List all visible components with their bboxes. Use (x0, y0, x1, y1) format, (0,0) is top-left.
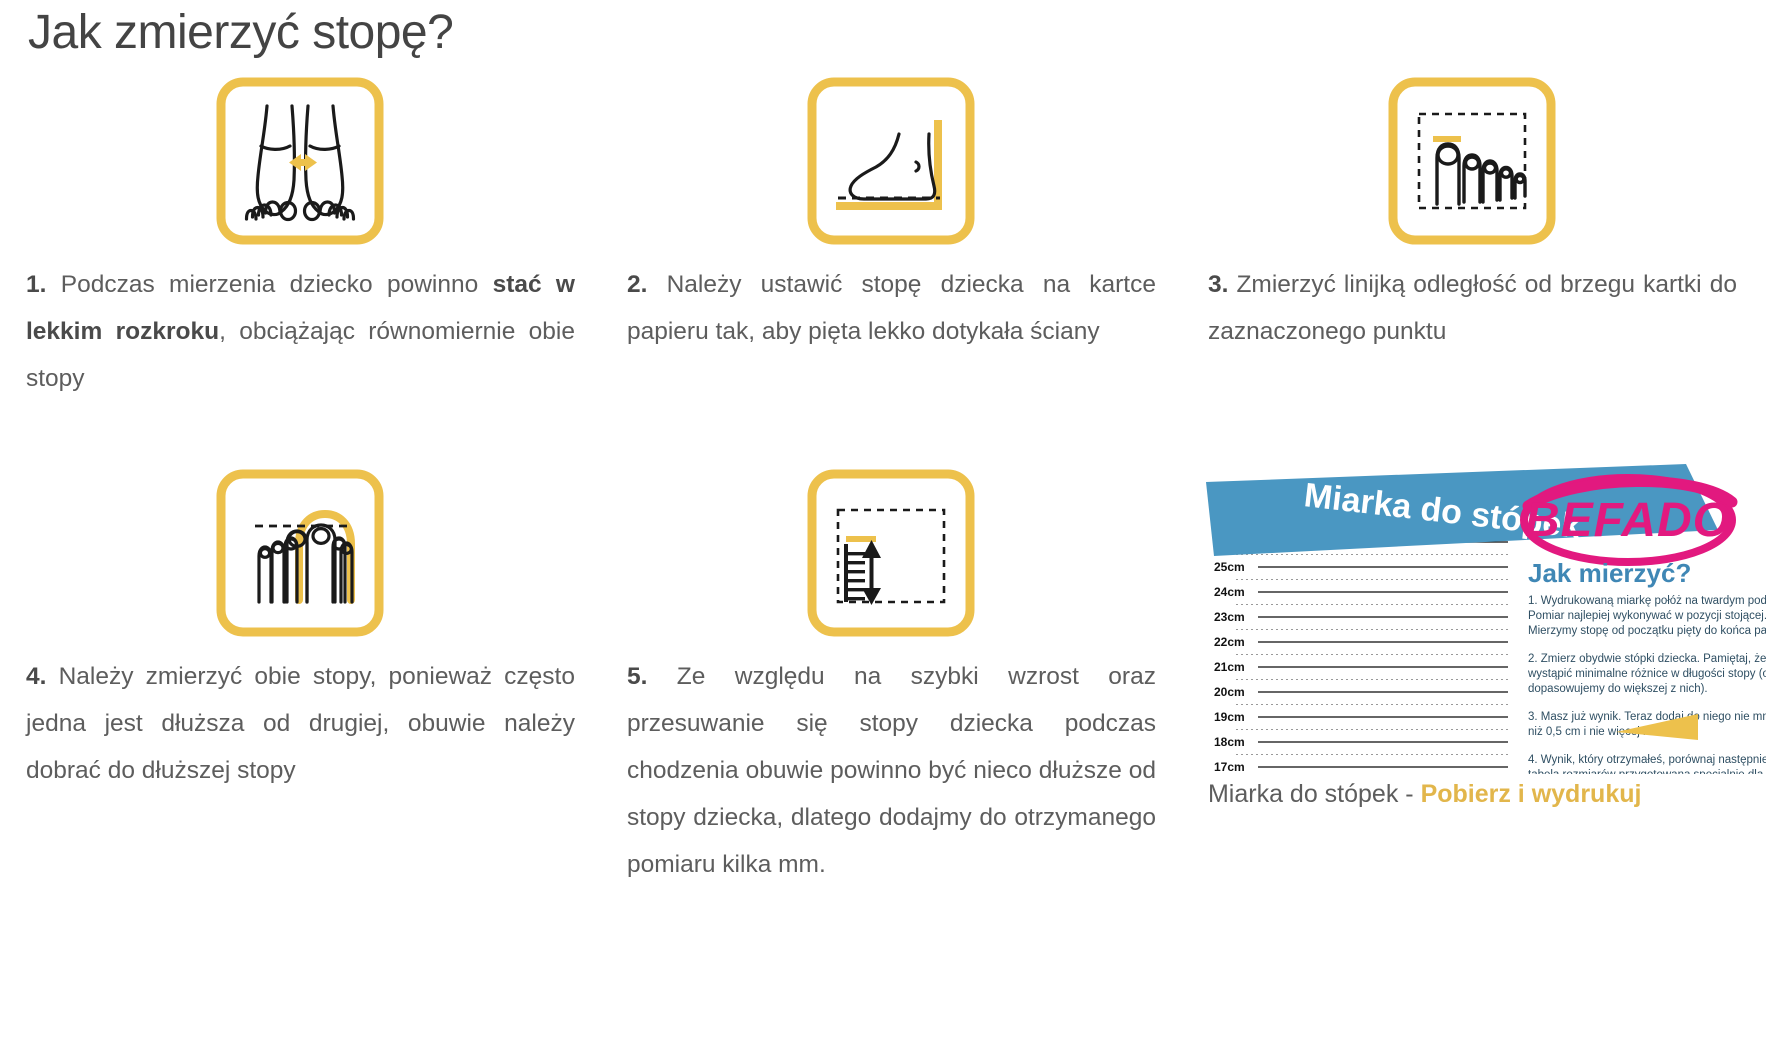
instruction-line: 2. Zmierz obydwie stópki dziecka. Pamięt… (1528, 653, 1766, 665)
foot-profile-against-wall-icon (806, 76, 976, 246)
step-4-icon-wrap (24, 462, 577, 653)
miarka-promo: 26cm25cm24cm23cm22cm21cm20cm19cm18cm17cm… (1206, 464, 1766, 809)
toe-mark (1433, 136, 1461, 142)
ruler-tick-label: 19cm (1214, 710, 1245, 724)
steps-row-2: 4. Należy zmierzyć obie stopy, ponieważ … (24, 462, 1767, 888)
step-5-icon-wrap (625, 462, 1158, 653)
instruction-line: 3. Masz już wynik. Teraz dodaj do niego … (1528, 711, 1766, 723)
floor-line (836, 202, 942, 210)
promo-caption: Miarka do stópek - Pobierz i wydrukuj (1206, 780, 1766, 809)
step-3-body: Zmierzyć linijką odległość od brzegu kar… (1208, 271, 1737, 345)
miarka-do-stopek-graphic: 26cm25cm24cm23cm22cm21cm20cm19cm18cm17cm… (1206, 464, 1766, 774)
instruction-line: wystąpić minimalne różnice w długości st… (1527, 668, 1766, 680)
ruler-tick-label: 24cm (1214, 585, 1245, 599)
step-2-number: 2. (627, 271, 647, 298)
step-card-4: 4. Należy zmierzyć obie stopy, ponieważ … (24, 462, 605, 888)
two-feet-stance-icon (215, 76, 385, 246)
instruction-line: dopasowujemy do większej z nich). (1528, 683, 1708, 695)
step-5-body: Ze względu na szybki wzrost oraz przesuw… (627, 663, 1156, 878)
ruler-tick-label: 25cm (1214, 560, 1245, 574)
step-1-icon-wrap (24, 64, 577, 261)
step-4-body: Należy zmierzyć obie stopy, ponieważ czę… (26, 663, 575, 784)
step-2-body: Należy ustawić stopę dziecka na kartce p… (627, 271, 1156, 345)
ruler-tick-label: 18cm (1214, 735, 1245, 749)
ruler-tick-label: 23cm (1214, 610, 1245, 624)
instruction-line: tabelą rozmiarów przygotowaną specjalnie… (1528, 769, 1764, 774)
instruction-line: 4. Wynik, który otrzymałeś, porównaj nas… (1528, 754, 1766, 766)
instruction-line: Pomiar najlepiej wykonywać w pozycji sto… (1528, 610, 1766, 622)
step-card-3: 3. Zmierzyć linijką odległość od brzegu … (1186, 64, 1767, 402)
page-title: Jak zmierzyć stopę? (24, 0, 1767, 64)
step-5-text: 5. Ze względu na szybki wzrost oraz prze… (625, 653, 1158, 888)
step-3-text: 3. Zmierzyć linijką odległość od brzegu … (1206, 261, 1739, 355)
promo-caption-prefix: Miarka do stópek - (1208, 780, 1421, 808)
ruler-measure-icon (806, 468, 976, 638)
step-1-body-a: Podczas mierzenia dziecko powinno (46, 271, 492, 298)
step-5-number: 5. (627, 663, 647, 690)
steps-row-1: 1. Podczas mierzenia dziecko powinno sta… (24, 64, 1767, 402)
step-3-number: 3. (1208, 271, 1228, 298)
step-card-5: 5. Ze względu na szybki wzrost oraz prze… (605, 462, 1186, 888)
step-card-1: 1. Podczas mierzenia dziecko powinno sta… (24, 64, 605, 402)
ruler-tick-label: 22cm (1214, 635, 1245, 649)
step-2-text: 2. Należy ustawić stopę dziecka na kartc… (625, 261, 1158, 355)
ruler-tick-label: 20cm (1214, 685, 1245, 699)
step-3-icon-wrap (1206, 64, 1739, 261)
ruler-tick-label: 21cm (1214, 660, 1245, 674)
step-4-number: 4. (26, 663, 46, 690)
step-1-number: 1. (26, 271, 46, 298)
foot-measuring-guide-page: Jak zmierzyć stopę? (0, 0, 1791, 1052)
step-card-2: 2. Należy ustawić stopę dziecka na kartc… (605, 64, 1186, 402)
howto-heading: Jak mierzyć? (1528, 558, 1691, 588)
ruler-tick-label: 17cm (1214, 760, 1245, 774)
step-4-text: 4. Należy zmierzyć obie stopy, ponieważ … (24, 653, 577, 794)
miarka-promo-card: 26cm25cm24cm23cm22cm21cm20cm19cm18cm17cm… (1186, 462, 1767, 888)
step-1-text: 1. Podczas mierzenia dziecko powinno sta… (24, 261, 577, 402)
befado-wordmark: BEFADO (1525, 494, 1731, 547)
instruction-line: 1. Wydrukowaną miarkę połóż na twardym p… (1528, 595, 1766, 607)
step-2-icon-wrap (625, 64, 1158, 261)
instruction-line: Mierzymy stopę od początku pięty do końc… (1528, 625, 1766, 637)
compare-both-feet-icon (215, 468, 385, 638)
download-print-link[interactable]: Pobierz i wydrukuj (1421, 780, 1642, 808)
toes-marked-point-icon (1387, 76, 1557, 246)
